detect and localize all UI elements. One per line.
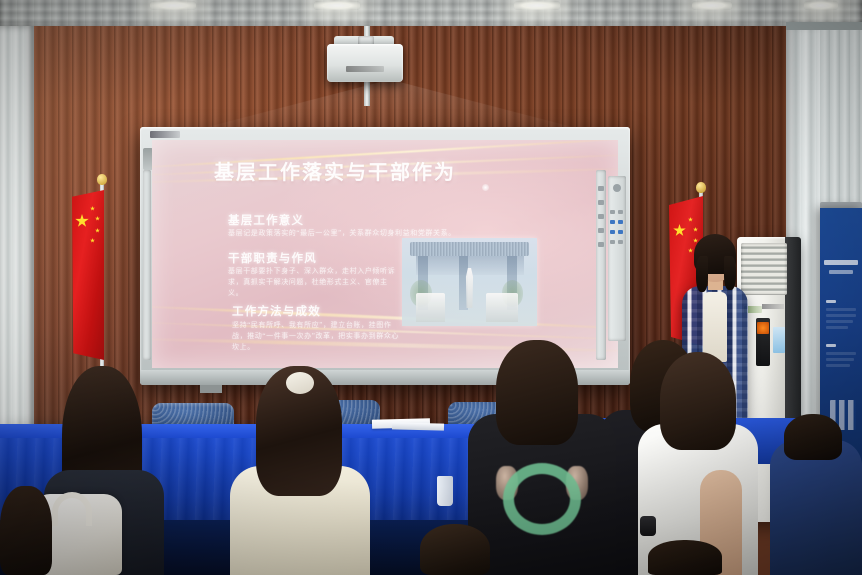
slide-heading-2: 干部职责与作风 [228,250,317,266]
banner-item1-line2 [826,314,856,317]
photo-stone-left [416,293,446,323]
control-button-3[interactable] [598,214,604,219]
air-conditioner-temperature-readout [757,322,769,334]
presenter-inner-top [703,292,727,362]
photo-roof [410,242,529,257]
flag-finial-left-icon [97,174,107,185]
whiteboard-keypad[interactable] [608,176,626,341]
tshirt-graphic-ring [503,463,581,535]
keypad-button-7[interactable] [610,240,615,244]
power-button[interactable] [613,184,621,192]
audience-member-blue-top-hair [784,414,842,460]
documents-on-table-2[interactable] [392,422,444,430]
slide-body-3: 坚持“民有所呼、我有所应”，建立台账，挂图作战，推动“一件事一次办”改革，把实事… [232,320,400,353]
banner-item2-line3 [826,364,850,367]
projector [327,44,403,82]
banner-item2-line2 [826,358,854,361]
photo-stone-right [486,293,518,323]
control-button-5[interactable] [598,242,604,247]
keypad-button-3[interactable] [610,220,615,224]
energy-label-sticker [773,327,785,353]
wall-ledge [786,22,862,30]
banner-item2-line1 [826,352,856,355]
flag-star-big-left [75,214,89,228]
slide-heading-3: 工作方法与成效 [232,303,321,319]
flag-star-small-2-right [693,227,698,232]
flag-star-small-4-right [688,248,693,253]
control-button-2[interactable] [598,200,604,205]
ceiling-light-1 [150,1,196,10]
audience-member-black-tee-hair [496,340,578,445]
flag-star-small-4-left [90,238,95,243]
audience-member-far-left [0,486,52,575]
flag-star-big-right [673,224,686,237]
flag-star-small-3-left [95,228,100,233]
flag-star-small-1-left [90,206,95,211]
presenter-hair-strand-left [696,256,708,292]
control-button-1[interactable] [598,186,604,191]
whiteboard-control-panel-strip[interactable] [596,170,606,360]
audience-member-front-row-1 [420,524,490,575]
whiteboard-foot-left [200,385,222,393]
keypad-button-2[interactable] [618,210,623,214]
audience-member-blue-top [770,440,862,575]
projector-brand-label [346,66,384,72]
air-conditioner-vent-grill [741,243,787,295]
slide-photo [402,238,537,326]
banner-subhead [829,270,853,274]
ceiling-light-5 [804,1,838,10]
keypad-button-4[interactable] [618,220,623,224]
keypad-button-6[interactable] [618,230,623,234]
hair-scrunchie [286,372,314,394]
ceiling-light-4 [692,1,732,10]
slide-title: 基层工作落实与干部作为 [214,156,494,185]
chinese-national-flag-left [72,190,104,360]
control-button-4[interactable] [598,228,604,233]
keypad-button-1[interactable] [610,210,615,214]
slide-heading-1: 基层工作意义 [228,212,304,228]
flag-star-small-2-left [95,216,100,221]
flag-finial-right-icon [696,182,706,193]
audience-member-white-top-hair [660,352,736,450]
keypad-button-5[interactable] [610,230,615,234]
presenter-hair-strand-right [724,256,736,290]
paper-cup[interactable] [437,476,453,506]
classroom-scene: 基层工作落实与干部作为 基层工作意义 基层记是政策落实的“最后一公里”，关系群众… [0,0,862,575]
banner-item1-line1 [826,308,856,311]
slide-body-2: 基层干部要扑下身子、深入群众，走村入户倾听诉求，真抓实干解决问题，杜绝形式主义、… [228,266,396,299]
ceiling-light-3 [514,1,560,10]
banner-item1-title [826,300,836,303]
wristwatch [640,516,656,536]
backpack-strap [52,492,92,526]
banner-item1-line3 [826,320,853,323]
banner-headline [824,260,858,265]
keypad-button-8[interactable] [618,240,623,244]
banner-item2-title [826,344,836,347]
projection-screen[interactable]: 基层工作落实与干部作为 基层工作意义 基层记是政策落实的“最后一公里”，关系群众… [152,140,618,368]
whiteboard-left-trim [143,170,151,360]
whiteboard-brand-logo [150,131,180,138]
screen-glare-spot [482,184,489,191]
flag-star-small-1-right [688,217,693,222]
ceiling-light-2 [314,1,360,10]
air-conditioner-brand-label [762,304,784,309]
banner-item1-line4 [826,326,848,329]
audience-member-front-row-2 [648,540,722,575]
